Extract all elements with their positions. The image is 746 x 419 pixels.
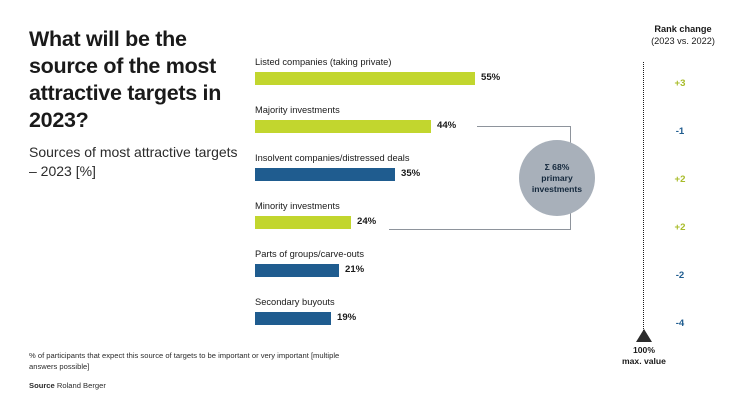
bar-fill	[255, 72, 475, 85]
max-value-line1: 100%	[604, 345, 684, 356]
bar-category-label: Majority investments	[255, 106, 340, 115]
bar-category-label: Minority investments	[255, 202, 340, 211]
bar-fill	[255, 264, 339, 277]
slide-canvas: What will be the source of the most attr…	[0, 0, 746, 419]
max-value-line2: max. value	[604, 356, 684, 367]
rank-change-subtitle: (2023 vs. 2022)	[620, 35, 746, 47]
max-value-dotted-line	[643, 62, 644, 331]
footnote-text: % of participants that expect this sourc…	[29, 350, 369, 372]
bar-track	[255, 216, 351, 229]
bar-value-label: 44%	[437, 121, 456, 131]
rank-change-value: -2	[660, 271, 700, 281]
callout-line3: investments	[532, 184, 582, 195]
bar-fill	[255, 168, 395, 181]
bar-track	[255, 168, 395, 181]
max-value-label: 100% max. value	[604, 345, 684, 367]
bar-category-label: Insolvent companies/distressed deals	[255, 154, 410, 163]
bar-value-label: 21%	[345, 265, 364, 275]
callout-bracket-top	[477, 126, 571, 127]
callout-sum: Σ 68%	[545, 162, 570, 173]
source-label: Source	[29, 381, 55, 390]
bar-track	[255, 120, 431, 133]
callout-bracket-bottom	[389, 229, 571, 230]
bar-category-label: Listed companies (taking private)	[255, 58, 391, 67]
bar-value-label: 35%	[401, 169, 420, 179]
bar-fill	[255, 120, 431, 133]
bar-track	[255, 264, 339, 277]
bar-track	[255, 72, 475, 85]
callout-line2: primary	[541, 173, 573, 184]
rank-change-value: -1	[660, 127, 700, 137]
bar-category-label: Secondary buyouts	[255, 298, 335, 307]
callout-circle: Σ 68% primary investments	[519, 140, 595, 216]
bar-fill	[255, 216, 351, 229]
bar-fill	[255, 312, 331, 325]
rank-change-value: +2	[660, 223, 700, 233]
bar-category-label: Parts of groups/carve-outs	[255, 250, 364, 259]
rank-change-value: +2	[660, 175, 700, 185]
bar-value-label: 55%	[481, 73, 500, 83]
bar-value-label: 24%	[357, 217, 376, 227]
bar-value-label: 19%	[337, 313, 356, 323]
rank-change-header: Rank change (2023 vs. 2022)	[620, 23, 746, 48]
source-value: Roland Berger	[57, 381, 106, 390]
bar-track	[255, 312, 331, 325]
rank-change-value: +3	[660, 79, 700, 89]
rank-change-value: -4	[660, 319, 700, 329]
source-line: Source Roland Berger	[29, 381, 106, 390]
max-value-triangle-icon	[636, 329, 652, 342]
rank-change-title: Rank change	[620, 23, 746, 35]
